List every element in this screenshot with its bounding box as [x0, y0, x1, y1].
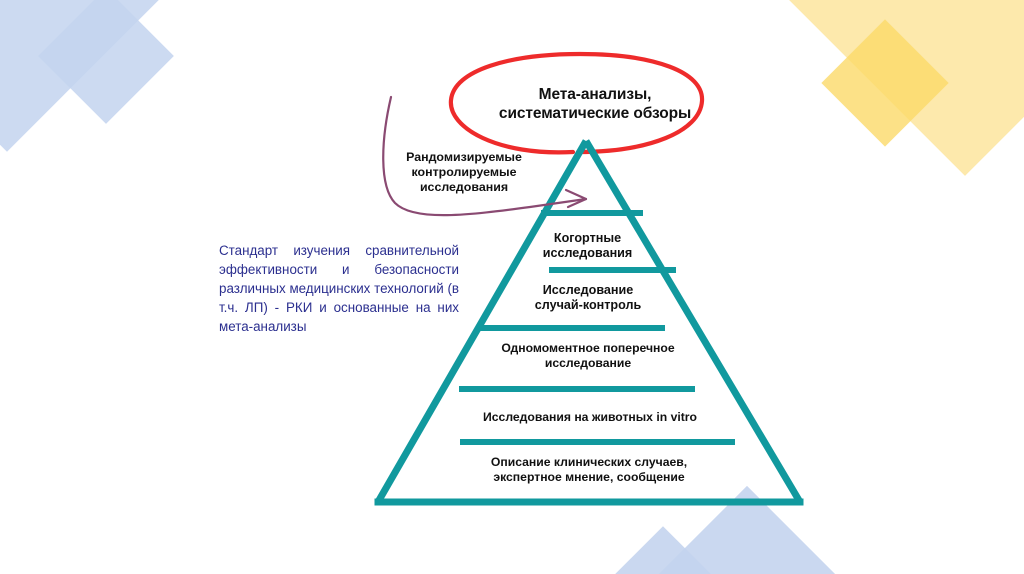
pyramid-apex-label: Мета-анализы, систематические обзоры — [470, 86, 720, 124]
pyramid-tier-label-cross-sectional: Одномоментное поперечное исследование — [452, 341, 724, 371]
pyramid-tier-label-case-control: Исследование случай-контроль — [492, 283, 684, 314]
pyramid-tier-label-case-report: Описание клинических случаев, экспертное… — [428, 455, 750, 485]
slide-canvas: Мета-анализы, систематические обзоры Ран… — [0, 0, 1024, 574]
side-paragraph-text: Стандарт изучения сравнительной эффектив… — [219, 241, 459, 336]
rct-callout-label: Рандомизируемые контролируемые исследова… — [384, 150, 544, 195]
pyramid-tier-label-cohort: Когортные исследования — [500, 231, 675, 262]
pyramid-tier-label-animal-in-vitro: Исследования на животных in vitro — [440, 410, 740, 425]
